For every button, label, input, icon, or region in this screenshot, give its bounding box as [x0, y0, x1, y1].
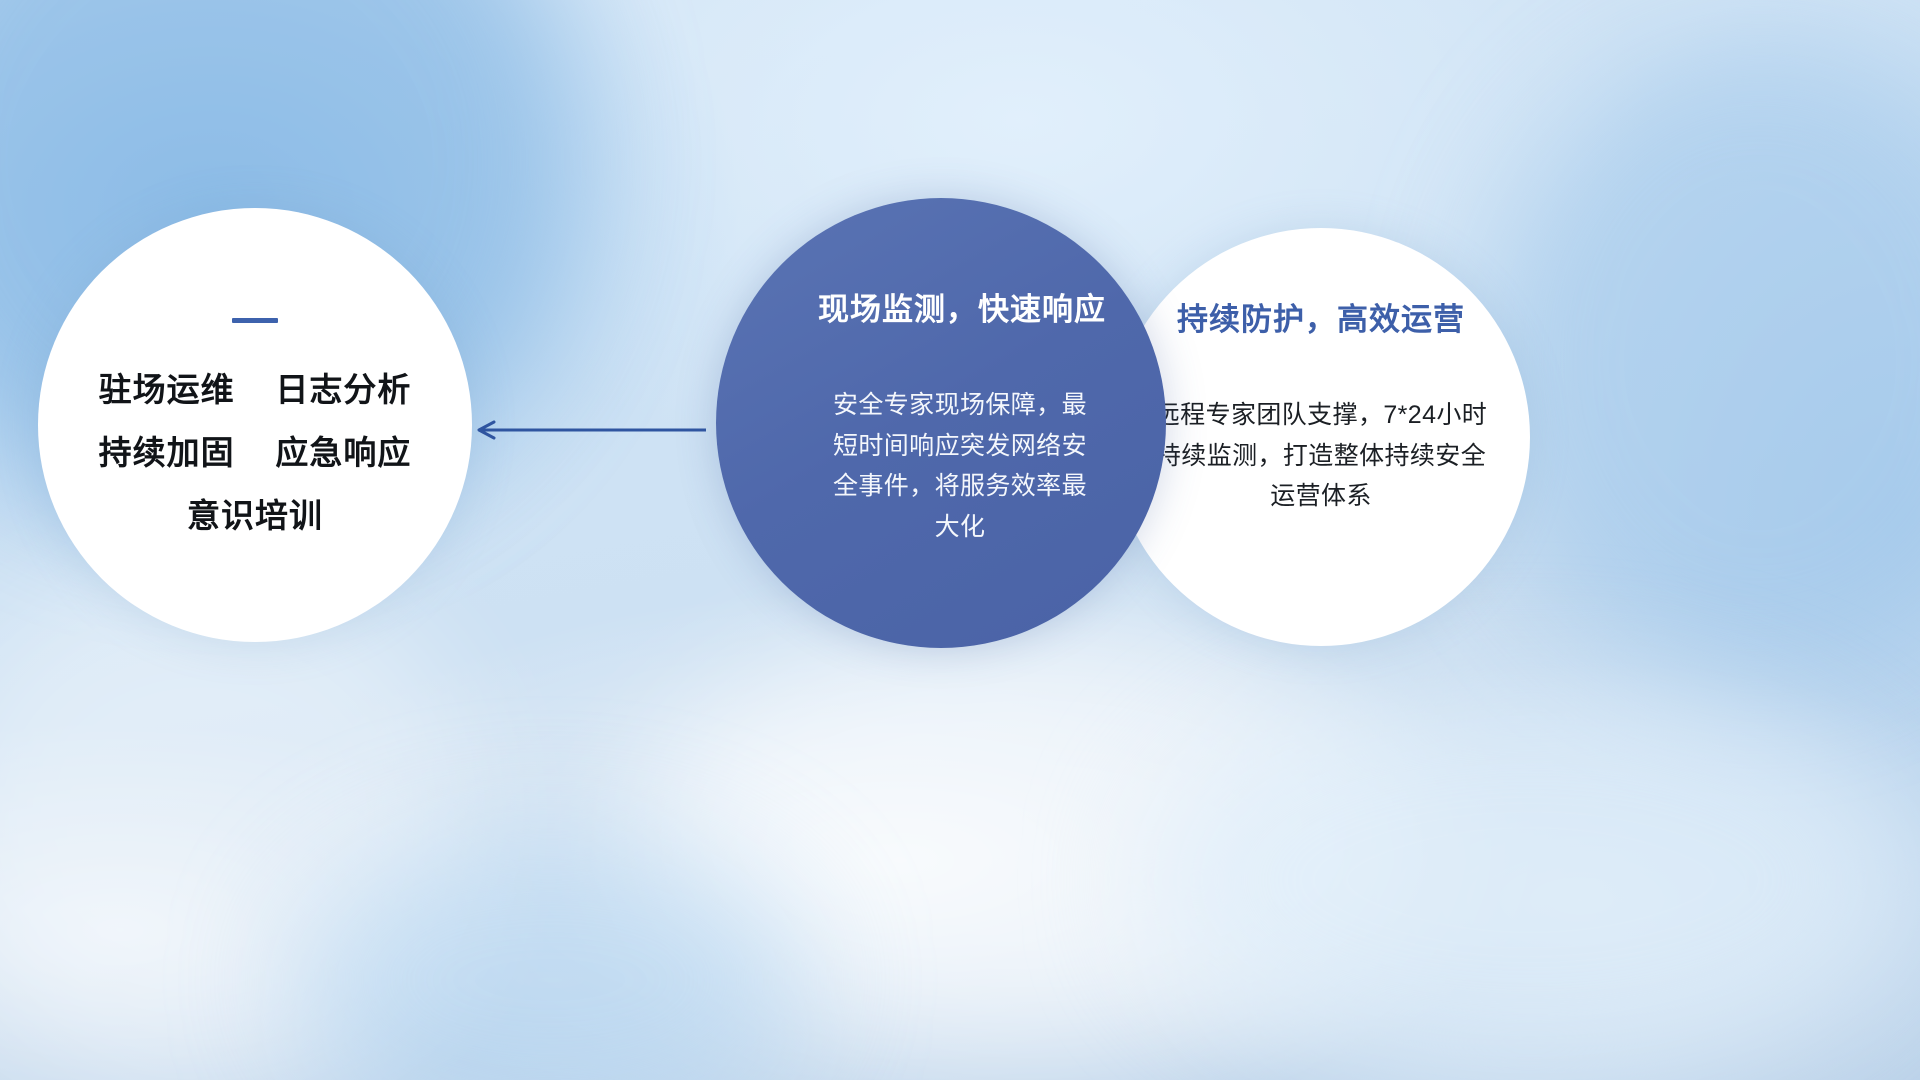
background-blob-right-low	[1150, 680, 1910, 1080]
right-circle-body: 远程专家团队支撑，7*24小时持续监测，打造整体持续安全运营体系	[1145, 395, 1497, 517]
background-blob-right-high	[1480, 40, 1920, 680]
slide-canvas: 驻场运维 日志分析 持续加固 应急响应 意识培训 现场监测，快速响应 安全专家现…	[0, 0, 1920, 1080]
flow-arrow-left	[470, 415, 710, 450]
left-circle-content: 驻场运维 日志分析 持续加固 应急响应 意识培训	[38, 208, 472, 642]
right-circle-content: 持续防护，高效运营 远程专家团队支撑，7*24小时持续监测，打造整体持续安全运营…	[1112, 228, 1530, 646]
right-capability-circle[interactable]: 持续防护，高效运营 远程专家团队支撑，7*24小时持续监测，打造整体持续安全运营…	[1112, 228, 1530, 646]
arrow-left-icon	[470, 415, 710, 445]
middle-circle-body: 安全专家现场保障，最短时间响应突发网络安全事件，将服务效率最大化	[825, 385, 1095, 547]
left-circle-line-2: 持续加固 应急响应	[99, 436, 412, 469]
left-circle-line-1: 驻场运维 日志分析	[99, 373, 412, 406]
middle-circle-title: 现场监测，快速响应	[818, 284, 1106, 329]
left-capability-circle[interactable]: 驻场运维 日志分析 持续加固 应急响应 意识培训	[38, 208, 472, 642]
middle-circle-content: 现场监测，快速响应 安全专家现场保障，最短时间响应突发网络安全事件，将服务效率最…	[716, 198, 1166, 648]
middle-capability-circle[interactable]: 现场监测，快速响应 安全专家现场保障，最短时间响应突发网络安全事件，将服务效率最…	[716, 198, 1166, 648]
left-circle-line-3: 意识培训	[187, 499, 323, 532]
right-circle-title: 持续防护，高效运营	[1177, 294, 1465, 339]
divider-rule	[232, 318, 278, 323]
